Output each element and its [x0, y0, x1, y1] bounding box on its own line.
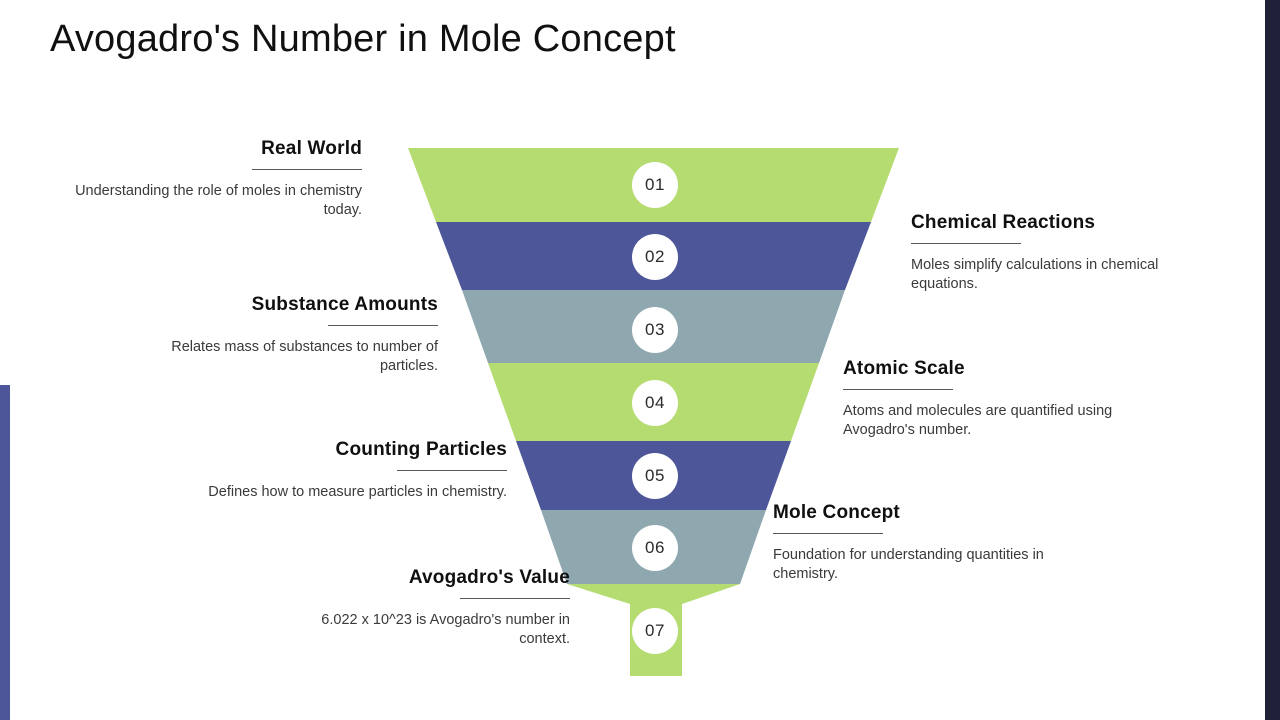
title-divider: [397, 470, 507, 471]
title-divider: [911, 243, 1021, 244]
left-edge-accent-bar: [0, 385, 10, 720]
info-block-substance-amounts: Substance Amounts Relates mass of substa…: [138, 294, 438, 377]
funnel-badge-02: 02: [632, 234, 678, 280]
info-block-title: Chemical Reactions: [911, 212, 1211, 234]
info-block-chemical-reactions: Chemical Reactions Moles simplify calcul…: [911, 212, 1211, 295]
title-divider: [252, 169, 362, 170]
info-block-body: Relates mass of substances to number of …: [138, 338, 438, 377]
slide-canvas: Avogadro's Number in Mole Concept 01 02 …: [0, 0, 1280, 720]
info-block-title: Counting Particles: [207, 439, 507, 461]
info-block-body: Understanding the role of moles in chemi…: [62, 182, 362, 221]
right-edge-accent-bar: [1265, 0, 1280, 720]
funnel-badge-06: 06: [632, 525, 678, 571]
funnel-badge-03: 03: [632, 307, 678, 353]
info-block-body: Moles simplify calculations in chemical …: [911, 256, 1211, 295]
info-block-real-world: Real World Understanding the role of mol…: [62, 138, 362, 221]
info-block-mole-concept: Mole Concept Foundation for understandin…: [773, 502, 1073, 585]
page-title: Avogadro's Number in Mole Concept: [50, 18, 676, 61]
funnel-badge-01: 01: [632, 162, 678, 208]
title-divider: [773, 533, 883, 534]
info-block-title: Substance Amounts: [138, 294, 438, 316]
info-block-counting-particles: Counting Particles Defines how to measur…: [207, 439, 507, 502]
info-block-title: Atomic Scale: [843, 358, 1143, 380]
info-block-atomic-scale: Atomic Scale Atoms and molecules are qua…: [843, 358, 1143, 441]
info-block-body: Defines how to measure particles in chem…: [207, 483, 507, 503]
title-divider: [328, 325, 438, 326]
funnel-badge-07: 07: [632, 608, 678, 654]
info-block-avogadros-value: Avogadro's Value 6.022 x 10^23 is Avogad…: [270, 567, 570, 650]
funnel-badge-05: 05: [632, 453, 678, 499]
info-block-title: Mole Concept: [773, 502, 1073, 524]
title-divider: [843, 389, 953, 390]
info-block-body: 6.022 x 10^23 is Avogadro's number in co…: [270, 611, 570, 650]
info-block-body: Foundation for understanding quantities …: [773, 546, 1073, 585]
title-divider: [460, 598, 570, 599]
info-block-title: Avogadro's Value: [270, 567, 570, 589]
info-block-title: Real World: [62, 138, 362, 160]
info-block-body: Atoms and molecules are quantified using…: [843, 402, 1143, 441]
funnel-badge-04: 04: [632, 380, 678, 426]
